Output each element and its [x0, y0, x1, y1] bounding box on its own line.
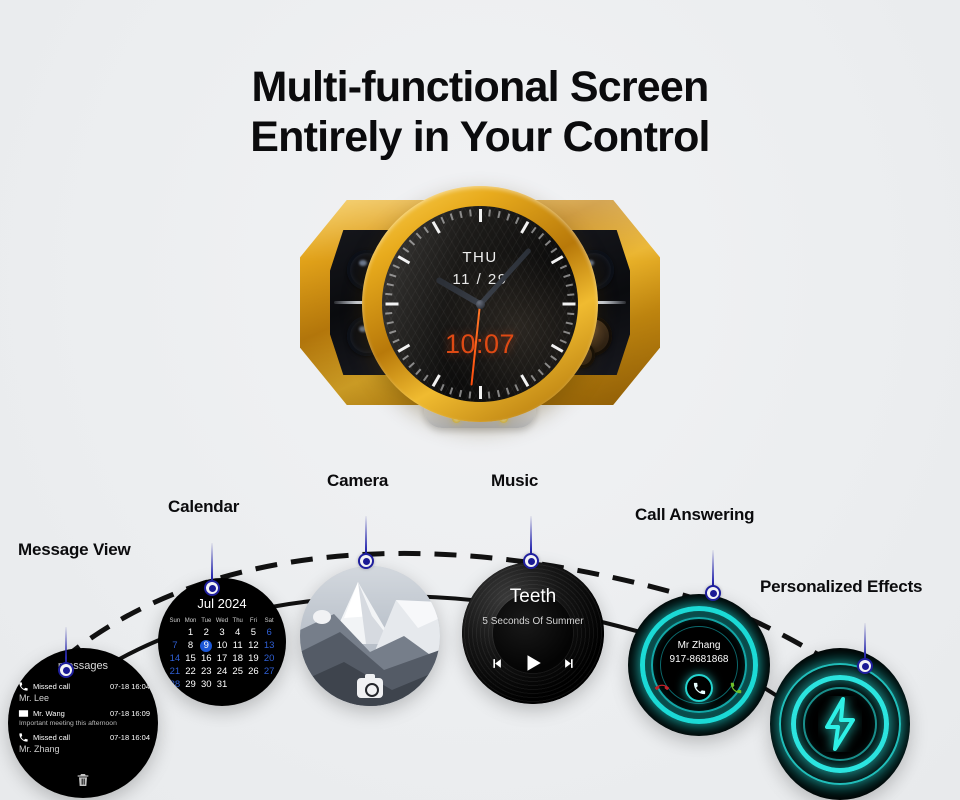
feature-label-call-answering: Call Answering — [635, 505, 754, 525]
message-time: 07-18 16:04 — [110, 682, 150, 691]
feature-label-calendar: Calendar — [168, 497, 239, 517]
music-controls — [462, 652, 604, 674]
feature-circle-call-answering[interactable]: Mr Zhang 917-8681868 — [628, 594, 770, 736]
phone-answer-icon[interactable] — [685, 674, 713, 702]
pin-marker-icon — [58, 662, 74, 678]
feature-circle-message-view[interactable]: messages Missed call 07-18 16:04 Mr. Lee… — [8, 648, 158, 798]
pin-marker-icon — [204, 580, 220, 596]
feature-pin-camera[interactable] — [356, 501, 376, 569]
calendar-blank — [167, 627, 183, 639]
calendar-day[interactable]: 12 — [246, 640, 262, 652]
camera-icon[interactable] — [357, 678, 383, 698]
calendar-weekday: Fri — [246, 618, 262, 626]
pin-marker-icon — [857, 658, 873, 674]
message-time: 07-18 16:04 — [110, 733, 150, 742]
pin-marker-icon — [358, 553, 374, 569]
next-track-icon[interactable] — [562, 656, 577, 671]
feature-circle-personalized-effects[interactable] — [770, 648, 910, 800]
calendar-day[interactable]: 10 — [214, 640, 230, 652]
phone-accept-icon[interactable] — [729, 681, 743, 695]
feature-pin-music[interactable] — [521, 501, 541, 569]
calendar-day[interactable]: 8 — [183, 640, 199, 652]
calendar-day[interactable]: 20 — [261, 653, 277, 665]
feature-circle-music[interactable]: Teeth 5 Seconds Of Summer — [462, 562, 604, 704]
feature-label-message-view: Message View — [18, 540, 131, 560]
calendar-day[interactable]: 9 — [198, 640, 214, 652]
calendar-grid[interactable]: SunMonTueWedThuFriSat1234567891011121314… — [167, 618, 277, 691]
calendar-day[interactable]: 14 — [167, 653, 183, 665]
message-kind: Missed call — [33, 733, 70, 742]
vinyl-record — [462, 562, 604, 704]
calendar-weekday: Mon — [183, 618, 199, 626]
feature-pin-calendar[interactable] — [202, 528, 222, 596]
calendar-day[interactable]: 6 — [261, 627, 277, 639]
calendar-day[interactable]: 7 — [167, 640, 183, 652]
message-time: 07-18 16:09 — [110, 709, 150, 718]
messages-title: messages — [8, 660, 158, 672]
calendar-day[interactable]: 31 — [214, 679, 230, 691]
calendar-day[interactable]: 24 — [214, 666, 230, 678]
calendar-weekday: Wed — [214, 618, 230, 626]
trash-icon[interactable] — [75, 772, 91, 788]
previous-track-icon[interactable] — [489, 656, 504, 671]
caller-name: Mr Zhang — [628, 640, 770, 651]
photo-highlight — [313, 610, 331, 624]
feature-pin-call-answering[interactable] — [703, 535, 723, 601]
calendar-day[interactable]: 23 — [198, 666, 214, 678]
calendar-day[interactable]: 1 — [183, 627, 199, 639]
calendar-day[interactable]: 15 — [183, 653, 199, 665]
message-name: Mr. Zhang — [19, 744, 150, 754]
feature-pin-message-view[interactable] — [56, 612, 76, 678]
calendar-day[interactable]: 2 — [198, 627, 214, 639]
feature-label-music: Music — [491, 471, 538, 491]
calendar-day[interactable]: 17 — [214, 653, 230, 665]
feature-pin-personalized-effects[interactable] — [855, 608, 875, 674]
pin-marker-icon — [705, 585, 721, 601]
calendar-weekday: Tue — [198, 618, 214, 626]
caller-number: 917-8681868 — [628, 654, 770, 665]
feature-label-personalized-effects: Personalized Effects — [760, 577, 922, 597]
phone-decline-icon[interactable] — [655, 681, 669, 695]
message-kind: Mr. Wang — [33, 709, 65, 718]
calendar-day[interactable]: 29 — [183, 679, 199, 691]
calendar-day[interactable]: 27 — [261, 666, 277, 678]
feature-circle-camera[interactable] — [300, 566, 440, 706]
call-buttons — [628, 674, 770, 702]
feature-label-camera: Camera — [327, 471, 388, 491]
calendar-day[interactable]: 25 — [230, 666, 246, 678]
calendar-month: Jul 2024 — [158, 596, 286, 611]
calendar-weekday: Sun — [167, 618, 183, 626]
calendar-day[interactable]: 3 — [214, 627, 230, 639]
feature-circle-calendar[interactable]: Jul 2024 SunMonTueWedThuFriSat1234567891… — [158, 578, 286, 706]
list-item[interactable]: Mr. Wang 07-18 16:09 — [18, 708, 150, 719]
calendar-day[interactable]: 26 — [246, 666, 262, 678]
promo-page: Multi-functional Screen Entirely in Your… — [0, 0, 960, 800]
messages-list: Missed call 07-18 16:04 Mr. Lee Mr. Wang… — [18, 680, 150, 759]
message-kind: Missed call — [33, 682, 70, 691]
list-item[interactable]: Missed call 07-18 16:04 — [18, 681, 150, 692]
calendar-day[interactable]: 16 — [198, 653, 214, 665]
calendar-weekday: Sat — [261, 618, 277, 626]
music-title: Teeth — [462, 586, 604, 608]
lightning-bolt-icon — [818, 696, 862, 752]
phone-missed-icon — [18, 681, 29, 692]
calendar-day[interactable]: 11 — [230, 640, 246, 652]
calendar-day[interactable]: 28 — [167, 679, 183, 691]
calendar-day[interactable]: 30 — [198, 679, 214, 691]
pin-marker-icon — [523, 553, 539, 569]
calendar-day[interactable]: 4 — [230, 627, 246, 639]
message-preview: Important meeting this afternoon — [19, 720, 150, 727]
calendar-day[interactable]: 22 — [183, 666, 199, 678]
play-icon[interactable] — [522, 652, 544, 674]
music-artist: 5 Seconds Of Summer — [462, 616, 604, 627]
calendar-day[interactable]: 13 — [261, 640, 277, 652]
message-name: Mr. Lee — [19, 693, 150, 703]
phone-missed-icon — [18, 732, 29, 743]
calendar-weekday: Thu — [230, 618, 246, 626]
calendar-day[interactable]: 5 — [246, 627, 262, 639]
calendar-day[interactable]: 21 — [167, 666, 183, 678]
calendar-day[interactable]: 19 — [246, 653, 262, 665]
envelope-icon — [18, 708, 29, 719]
calendar-day[interactable]: 18 — [230, 653, 246, 665]
list-item[interactable]: Missed call 07-18 16:04 — [18, 732, 150, 743]
